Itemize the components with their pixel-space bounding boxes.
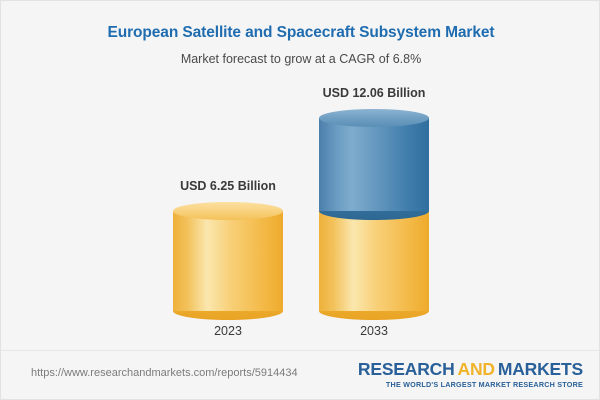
chart-footer: https://www.researchandmarkets.com/repor… bbox=[1, 350, 600, 399]
chart-card: European Satellite and Spacecraft Subsys… bbox=[0, 0, 600, 400]
cylinder-top-ellipse bbox=[319, 109, 429, 127]
logo-word-research: RESEARCH bbox=[358, 359, 455, 379]
cylinder-body bbox=[319, 118, 429, 211]
cylinder-segment-base-2023 bbox=[173, 211, 283, 311]
cylinder-top-ellipse bbox=[173, 202, 283, 220]
bar-group-2023[interactable]: USD 6.25 Billion 2023 bbox=[173, 211, 283, 311]
research-and-markets-logo[interactable]: RESEARCHANDMARKETS THE WORLD'S LARGEST M… bbox=[358, 360, 583, 389]
category-label-2033: 2033 bbox=[360, 324, 388, 338]
bar-value-label-2023: USD 6.25 Billion bbox=[180, 179, 276, 193]
logo-tagline: THE WORLD'S LARGEST MARKET RESEARCH STOR… bbox=[358, 380, 583, 389]
bar-value-label-2033: USD 12.06 Billion bbox=[323, 86, 426, 100]
cylinder-2023 bbox=[173, 211, 283, 311]
cylinder-2033 bbox=[319, 118, 429, 311]
cylinder-segment-growth-2033 bbox=[319, 118, 429, 211]
bar-group-2033[interactable]: USD 12.06 Billion 2033 bbox=[319, 118, 429, 311]
logo-word-and: AND bbox=[458, 359, 495, 379]
logo-word-markets: MARKETS bbox=[498, 359, 583, 379]
report-url[interactable]: https://www.researchandmarkets.com/repor… bbox=[31, 367, 298, 379]
logo-wordmark: RESEARCHANDMARKETS bbox=[358, 360, 583, 379]
chart-plot-area: USD 6.25 Billion 2023 USD 12.06 Billion bbox=[1, 1, 600, 351]
cylinder-body bbox=[319, 211, 429, 311]
category-label-2023: 2023 bbox=[214, 324, 242, 338]
cylinder-body bbox=[173, 211, 283, 311]
cylinder-segment-base-2033 bbox=[319, 211, 429, 311]
